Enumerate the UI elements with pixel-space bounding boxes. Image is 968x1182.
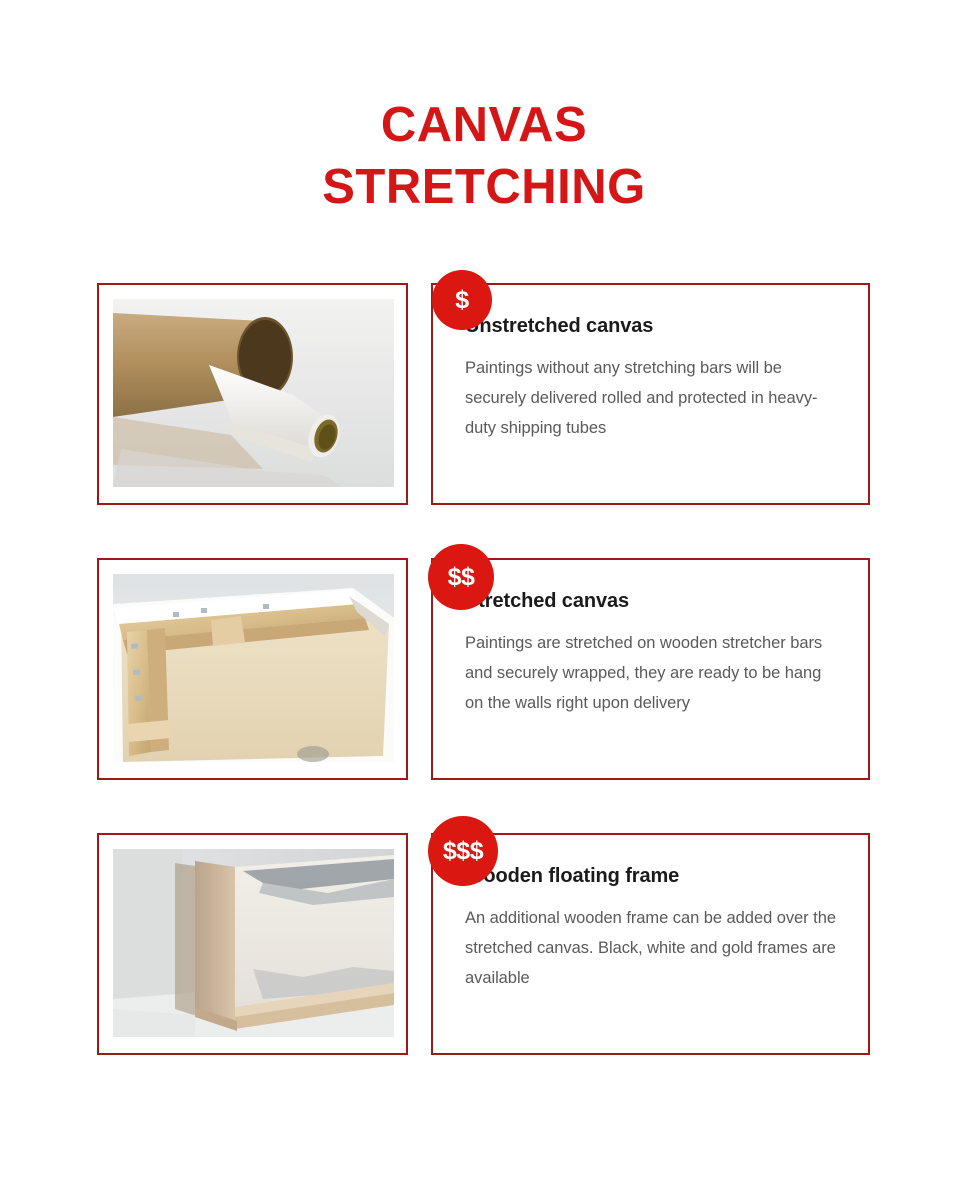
option-body-1: Paintings without any stretching bars wi… — [465, 353, 838, 443]
option-row-wooden-floating-frame: $$$ Wooden floating frame An additional … — [0, 833, 968, 1055]
photo-stretched-canvas — [113, 574, 394, 762]
photo-illustration-stretcher-bars — [113, 574, 394, 762]
image-card-unstretched-canvas: $ — [97, 283, 408, 505]
photo-unstretched-canvas — [113, 299, 394, 487]
image-card-stretched-canvas: $$ — [97, 558, 408, 780]
photo-illustration-floating-frame — [113, 849, 394, 1037]
option-body-3: An additional wooden frame can be added … — [465, 903, 838, 993]
canvas-stretching-infographic: CANVAS STRETCHING — [0, 0, 968, 1182]
page-title: CANVAS STRETCHING — [0, 94, 968, 218]
image-card-wooden-floating-frame: $$$ — [97, 833, 408, 1055]
page-title-line-1: CANVAS — [0, 94, 968, 156]
price-badge-2: $$ — [428, 544, 494, 610]
option-heading-2: Stretched canvas — [465, 588, 838, 614]
option-body-2: Paintings are stretched on wooden stretc… — [465, 628, 838, 718]
option-row-stretched-canvas: $$ Stretched canvas Paintings are stretc… — [0, 558, 968, 780]
price-badge-3: $$$ — [428, 816, 498, 886]
price-badge-1: $ — [432, 270, 492, 330]
photo-illustration-tube — [113, 299, 394, 487]
photo-wooden-floating-frame — [113, 849, 394, 1037]
option-heading-1: Unstretched canvas — [465, 313, 838, 339]
text-card-unstretched-canvas: Unstretched canvas Paintings without any… — [431, 283, 870, 505]
text-card-stretched-canvas: Stretched canvas Paintings are stretched… — [431, 558, 870, 780]
option-row-unstretched-canvas: $ Unstretched canvas Paintings without a… — [0, 283, 968, 505]
text-card-wooden-floating-frame: Wooden floating frame An additional wood… — [431, 833, 870, 1055]
page-title-line-2: STRETCHING — [0, 156, 968, 218]
option-heading-3: Wooden floating frame — [465, 863, 838, 889]
